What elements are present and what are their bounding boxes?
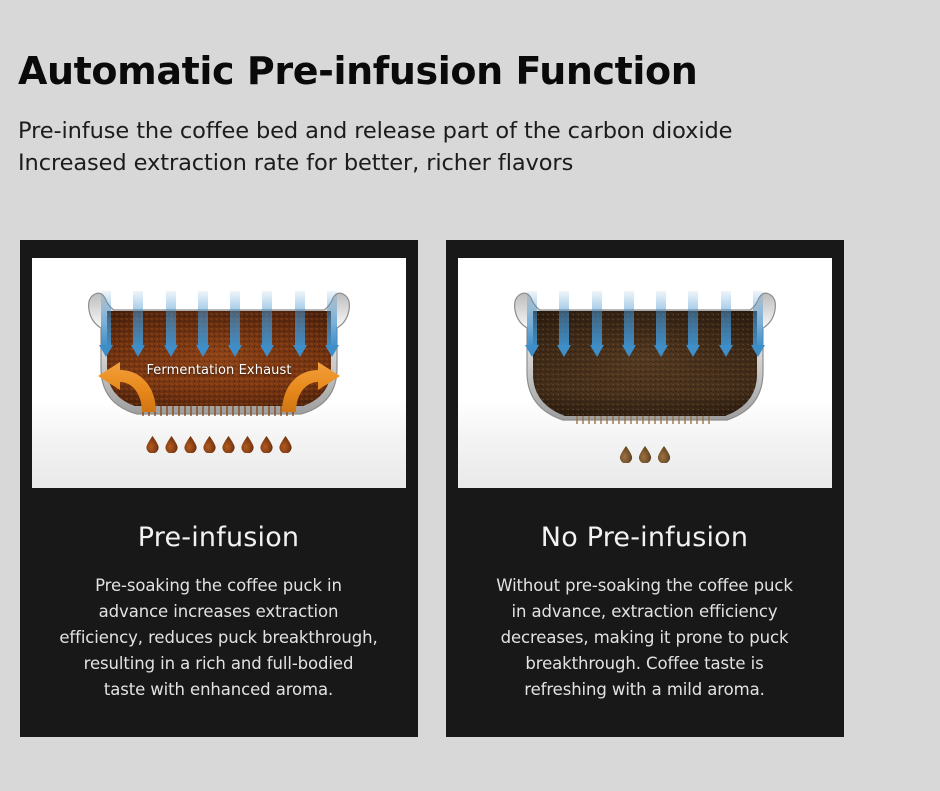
- card-title-no-pre-infusion: No Pre-infusion: [458, 488, 831, 553]
- card-body-line: resulting in a rich and full-bodied: [56, 651, 381, 677]
- illustration-pre-infusion: Fermentation Exhaust: [32, 258, 406, 488]
- page-title: Automatic Pre-infusion Function: [18, 50, 928, 94]
- coffee-drop-icon: [241, 436, 254, 453]
- coffee-drop-icon: [146, 436, 159, 453]
- coffee-drop-icon: [279, 436, 292, 453]
- card-body-line: efficiency, reduces puck breakthrough,: [56, 625, 381, 651]
- page-subtitle-line-2: Increased extraction rate for better, ri…: [18, 148, 928, 180]
- coffee-drop-icon: [222, 436, 235, 453]
- portafilter-basket-right: [507, 288, 783, 433]
- coffee-drop-icon: [658, 446, 671, 463]
- card-pre-infusion: Fermentation Exhaust Pre-infusion Pre-so…: [20, 240, 418, 737]
- coffee-drop-icon: [639, 446, 652, 463]
- card-body-line: taste with enhanced aroma.: [56, 677, 381, 703]
- comparison-cards-row: Fermentation Exhaust Pre-infusion Pre-so…: [20, 240, 844, 737]
- card-body-no-pre-infusion: Without pre-soaking the coffee puck in a…: [458, 553, 831, 703]
- illustration-no-pre-infusion: [458, 258, 832, 488]
- card-body-line: Without pre-soaking the coffee puck: [482, 573, 807, 599]
- coffee-drips-left: [146, 436, 292, 453]
- coffee-bed-right: [527, 308, 763, 420]
- coffee-drop-icon: [203, 436, 216, 453]
- card-body-line: Pre-soaking the coffee puck in: [56, 573, 381, 599]
- page-subtitle-line-1: Pre-infuse the coffee bed and release pa…: [18, 116, 928, 148]
- page-header: Automatic Pre-infusion Function Pre-infu…: [18, 50, 928, 180]
- card-body-line: refreshing with a mild aroma.: [482, 677, 807, 703]
- card-body-line: breakthrough. Coffee taste is: [482, 651, 807, 677]
- coffee-drop-icon: [260, 436, 273, 453]
- card-body-line: decreases, making it prone to puck: [482, 625, 807, 651]
- coffee-drop-icon: [184, 436, 197, 453]
- page-subtitle: Pre-infuse the coffee bed and release pa…: [18, 116, 928, 180]
- card-body-line: in advance, extraction efficiency: [482, 599, 807, 625]
- card-body-pre-infusion: Pre-soaking the coffee puck in advance i…: [32, 553, 405, 703]
- coffee-drop-icon: [620, 446, 633, 463]
- coffee-drips-right: [620, 446, 671, 463]
- card-title-pre-infusion: Pre-infusion: [32, 488, 405, 553]
- card-no-pre-infusion: No Pre-infusion Without pre-soaking the …: [446, 240, 844, 737]
- card-body-line: advance increases extraction: [56, 599, 381, 625]
- coffee-drop-icon: [165, 436, 178, 453]
- fermentation-exhaust-label: Fermentation Exhaust: [32, 363, 406, 378]
